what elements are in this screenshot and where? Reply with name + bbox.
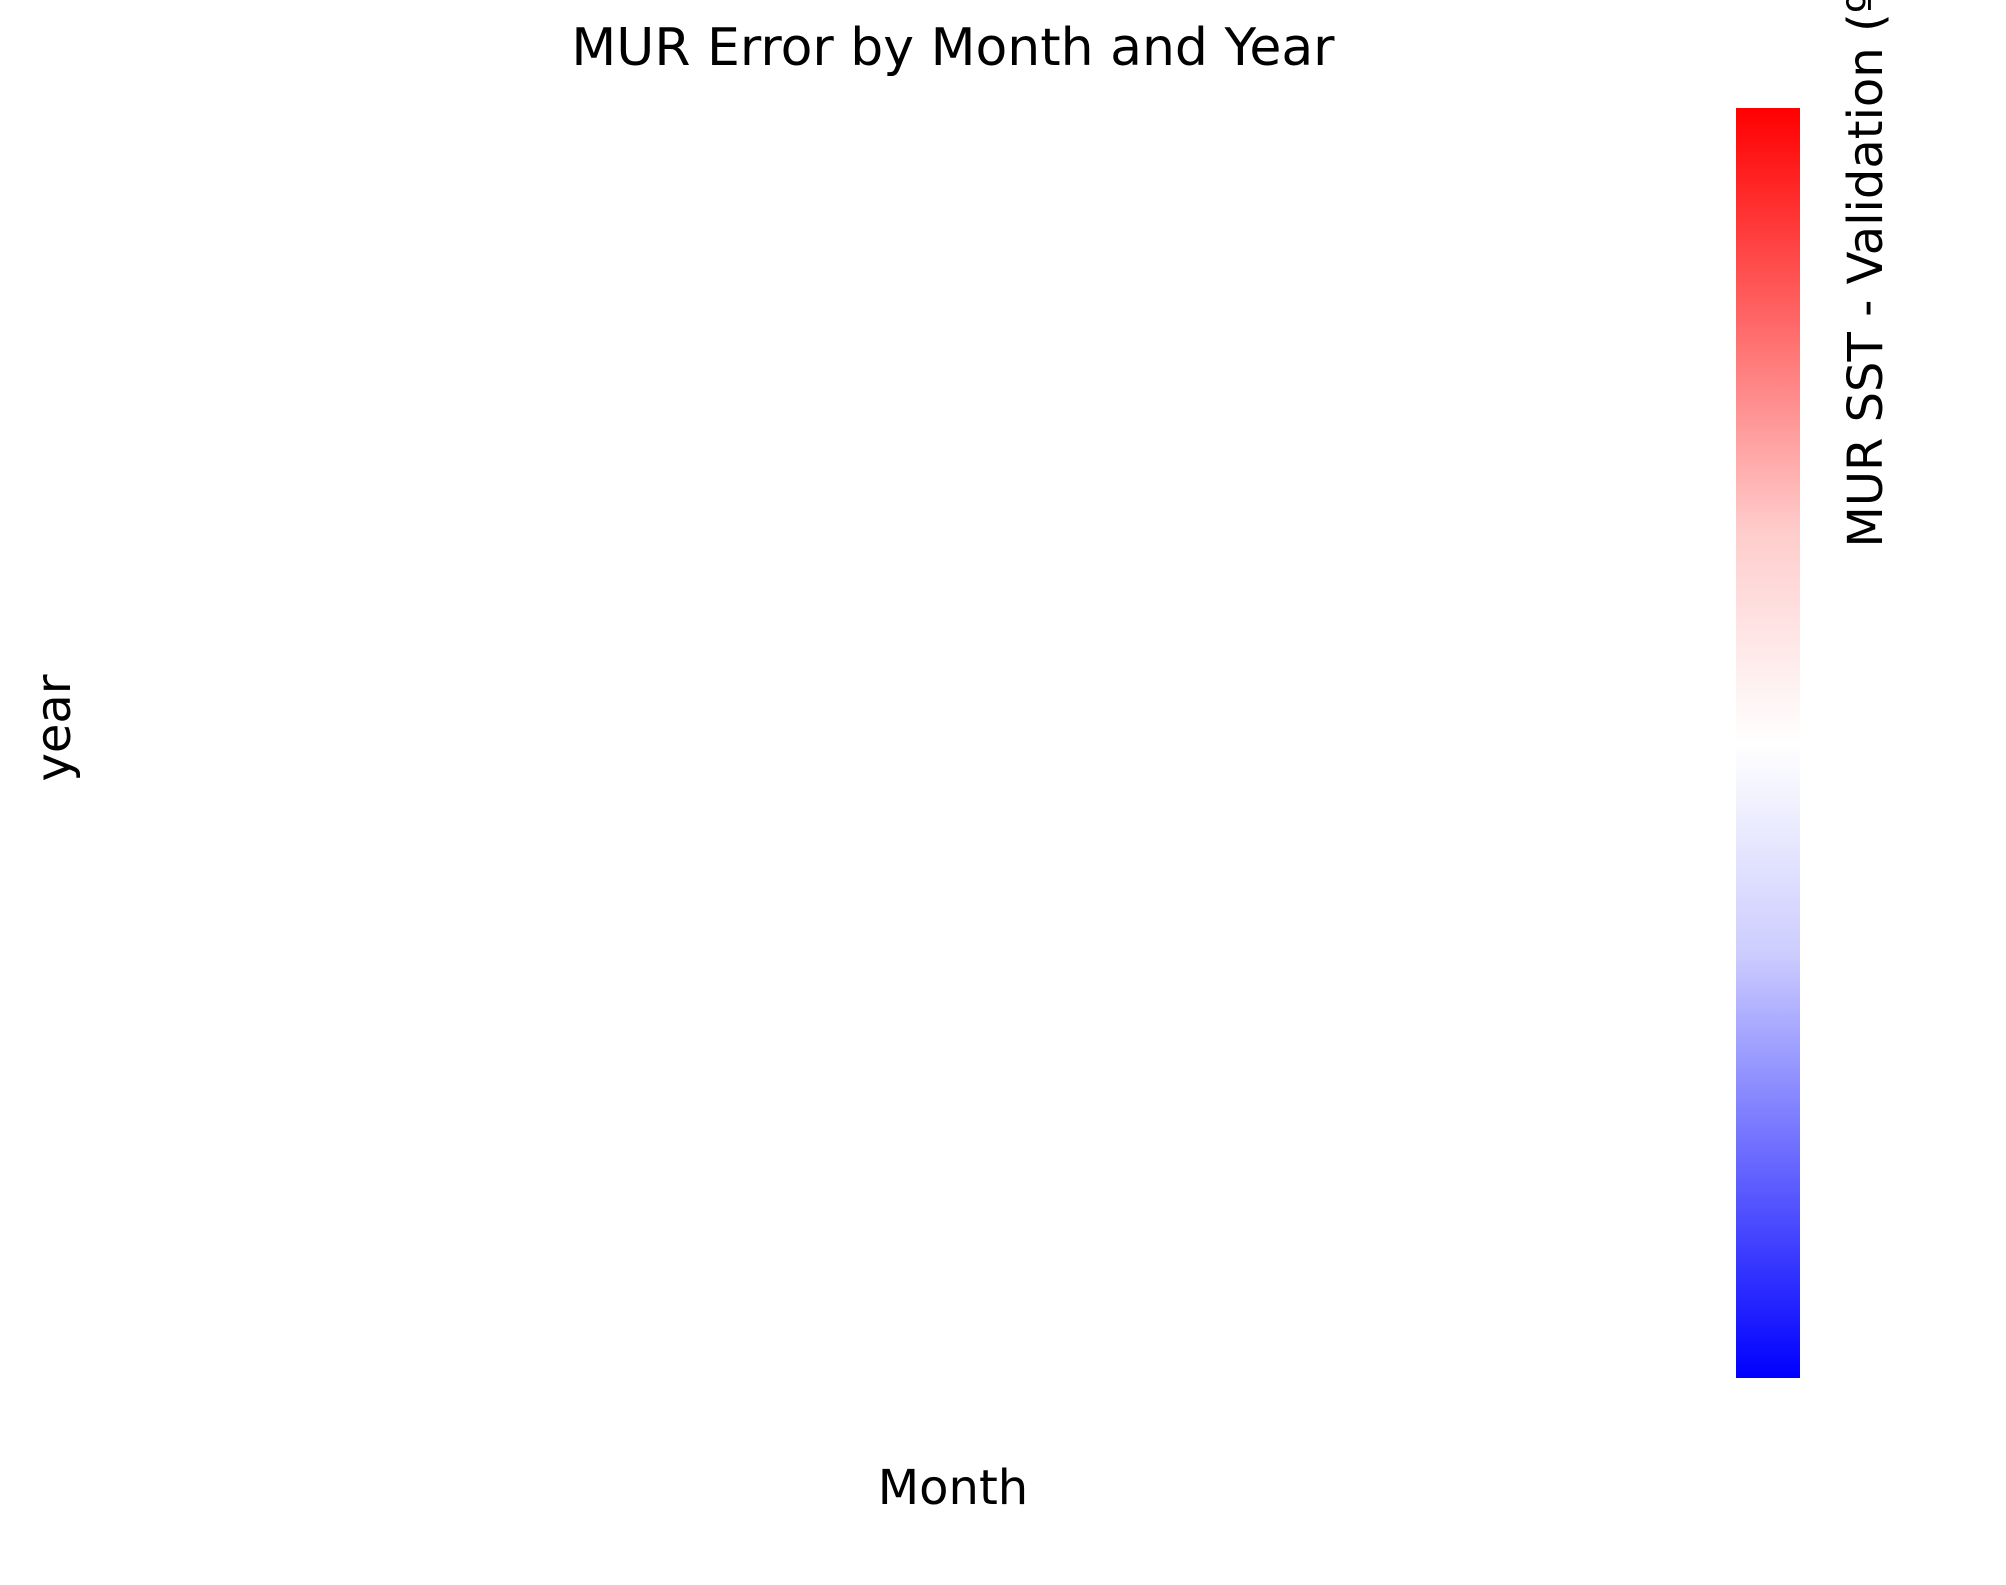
colorbar-gradient [1736, 108, 1800, 1378]
heatmap-figure: MUR Error by Month and Year year Month M… [0, 0, 2006, 1585]
x-axis-label: Month [258, 1460, 1648, 1516]
y-axis-label: year [26, 628, 82, 828]
heatmap-grid [258, 108, 1648, 1272]
page-title: MUR Error by Month and Year [258, 18, 1648, 78]
colorbar [1736, 108, 1800, 1378]
plot-area [258, 108, 1648, 1272]
x-axis [258, 1272, 1648, 1472]
colorbar-label: MUR SST - Validation (ºC) [1838, 0, 1894, 743]
